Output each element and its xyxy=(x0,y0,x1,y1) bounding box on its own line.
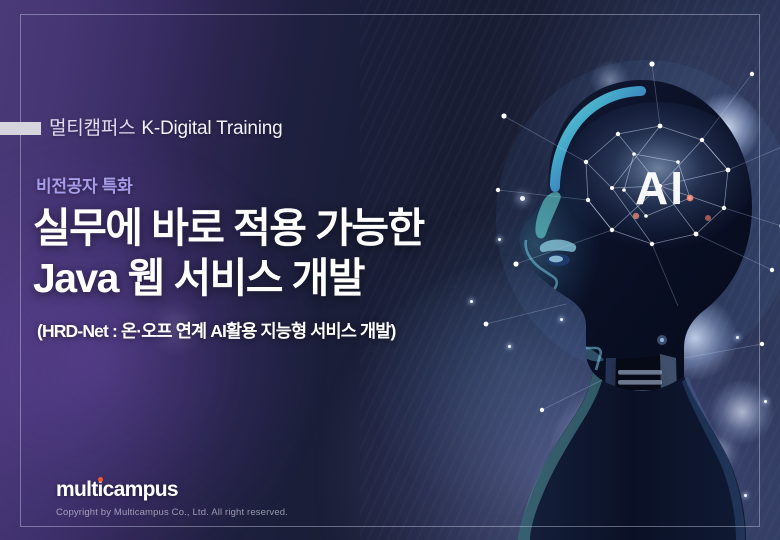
footer-block: multicampus Copyright by Multicampus Co.… xyxy=(56,478,288,518)
title-line-2: Java 웹 서비스 개발 xyxy=(33,253,503,303)
title-line-1: 실무에 바로 적용 가능한 xyxy=(33,205,424,251)
poster-content: 멀티캠퍼스K-Digital Training 비전공자 특화 실무에 바로 적… xyxy=(0,0,780,540)
brand-accent-bar xyxy=(0,122,41,135)
organization-name: 멀티캠퍼스 xyxy=(49,118,135,139)
course-subtitle: (HRD-Net : 온·오프 연계 AI활용 지능형 서비스 개발) xyxy=(37,318,396,343)
page-title: 실무에 바로 적용 가능한 Java 웹 서비스 개발 xyxy=(33,203,503,303)
copyright-text: Copyright by Multicampus Co., Ltd. All r… xyxy=(56,507,288,518)
brand-header: 멀티캠퍼스K-Digital Training xyxy=(49,113,282,140)
eyebrow-text: 비전공자 특화 xyxy=(36,172,132,197)
logo-wordmark: multicampus xyxy=(56,478,178,501)
multicampus-logo: multicampus xyxy=(56,478,178,502)
program-name: K-Digital Training xyxy=(141,118,282,139)
logo-dot-icon xyxy=(98,477,103,482)
poster-canvas: AI xyxy=(0,0,780,540)
